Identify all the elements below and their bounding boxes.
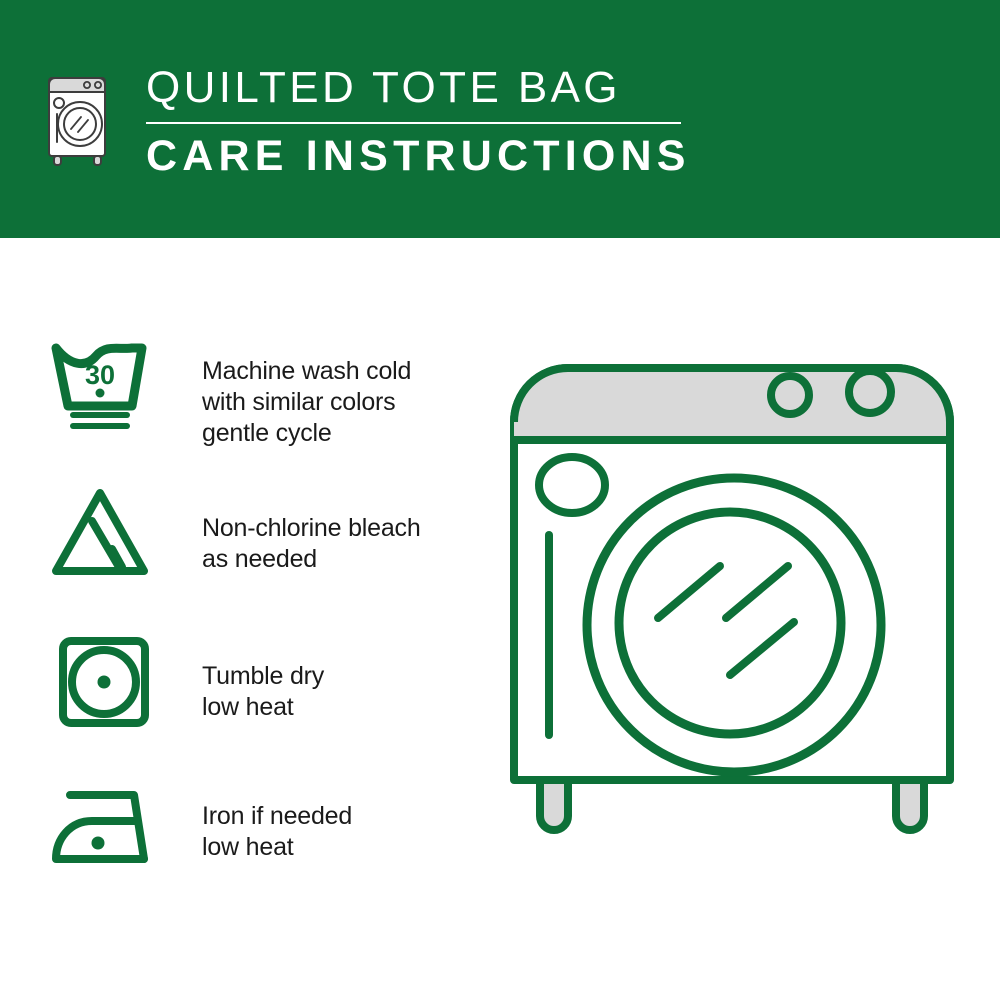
care-label-tumble-dry: Tumble dry low heat: [166, 633, 324, 723]
header-band: QUILTED TOTE BAG CARE INSTRUCTIONS: [0, 0, 1000, 238]
care-label-line: low heat: [202, 832, 352, 863]
header-content: QUILTED TOTE BAG CARE INSTRUCTIONS: [44, 62, 691, 179]
header-title-group: QUILTED TOTE BAG CARE INSTRUCTIONS: [146, 62, 691, 179]
wash-tub-icon: 30: [48, 336, 158, 436]
bleach-triangle-icon: [48, 485, 158, 585]
care-label-line: Non-chlorine bleach: [202, 513, 421, 544]
care-label-line: with similar colors: [202, 387, 411, 418]
leg-right: [896, 780, 924, 830]
care-label-line: Iron if needed: [202, 801, 352, 832]
care-label-line: as needed: [202, 544, 421, 575]
care-symbol-slot: 30: [48, 336, 166, 436]
care-row-bleach: Non-chlorine bleach as needed: [48, 485, 478, 597]
tumble-dry-icon: [48, 633, 158, 733]
care-label-wash: Machine wash cold with similar colors ge…: [166, 336, 411, 449]
care-row-iron: Iron if needed low heat: [48, 781, 478, 893]
iron-icon: [48, 781, 158, 881]
care-label-iron: Iron if needed low heat: [166, 781, 352, 863]
title-divider: [146, 122, 681, 124]
wash-temperature-value: 30: [85, 360, 115, 390]
care-row-wash: 30 Machine wash cold with similar colors…: [48, 336, 478, 449]
care-symbol-slot: [48, 485, 166, 585]
care-label-line: Tumble dry: [202, 661, 324, 692]
care-label-line: low heat: [202, 692, 324, 723]
care-instruction-list: 30 Machine wash cold with similar colors…: [48, 336, 478, 893]
page-subtitle: CARE INSTRUCTIONS: [146, 133, 691, 179]
leg-left: [540, 780, 568, 830]
care-label-bleach: Non-chlorine bleach as needed: [166, 485, 421, 575]
care-symbol-slot: [48, 633, 166, 733]
page-title: QUILTED TOTE BAG: [146, 64, 691, 112]
care-label-line: gentle cycle: [202, 418, 411, 449]
care-label-line: Machine wash cold: [202, 356, 411, 387]
care-row-tumble-dry: Tumble dry low heat: [48, 633, 478, 745]
front-load-washing-machine-illustration: [492, 330, 972, 930]
washing-machine-icon: [44, 62, 118, 168]
care-symbol-slot: [48, 781, 166, 881]
